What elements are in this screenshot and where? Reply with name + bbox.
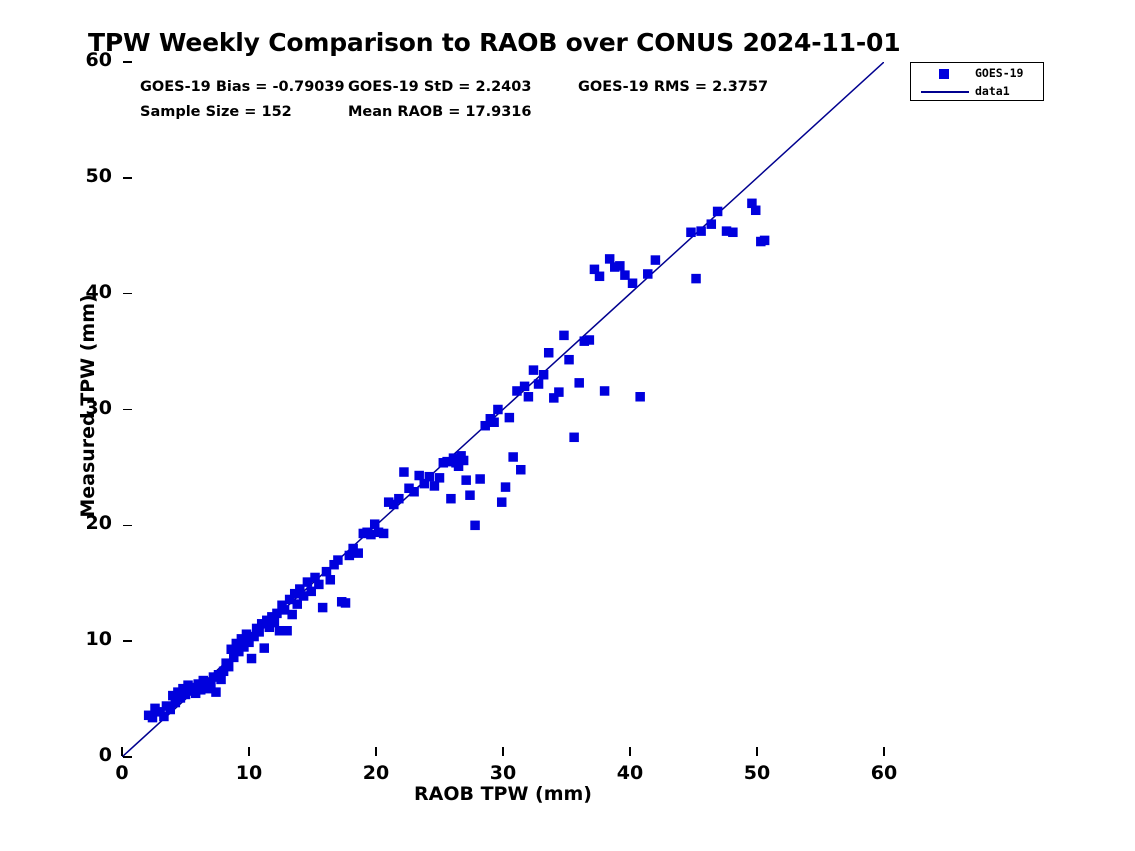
data-point-marker xyxy=(247,654,257,664)
data-point-marker xyxy=(760,236,770,246)
x-tick-20 xyxy=(375,747,376,756)
y-tick-20 xyxy=(123,525,132,526)
legend-entry-data1: data1 xyxy=(911,82,1045,101)
data-point-marker xyxy=(470,521,480,531)
x-ticklabel-10: 10 xyxy=(219,762,279,784)
data-point-marker xyxy=(524,392,534,402)
x-ticklabel-30: 30 xyxy=(473,762,533,784)
page-title: TPW Weekly Comparison to RAOB over CONUS… xyxy=(88,28,900,57)
data-point-marker xyxy=(333,555,343,565)
data-point-marker xyxy=(341,598,351,608)
data-point-marker xyxy=(318,603,328,613)
y-ticklabel-10: 10 xyxy=(66,628,112,650)
chart-figure: TPW Weekly Comparison to RAOB over CONUS… xyxy=(0,0,1135,851)
data-point-marker xyxy=(559,331,569,341)
legend-label-goes19: GOES-19 xyxy=(975,66,1043,80)
data-point-marker xyxy=(569,433,579,443)
x-tick-60 xyxy=(883,747,884,756)
x-ticklabel-20: 20 xyxy=(346,762,406,784)
x-ticklabel-60: 60 xyxy=(854,762,914,784)
data-point-marker xyxy=(605,254,615,264)
x-ticklabel-0: 0 xyxy=(92,762,152,784)
data-point-marker xyxy=(326,575,336,585)
data-point-marker xyxy=(628,278,638,288)
x-tick-0 xyxy=(121,747,122,756)
data-point-marker xyxy=(539,370,549,380)
plot-area xyxy=(122,62,884,757)
data-point-marker xyxy=(254,627,264,637)
data-point-marker xyxy=(643,269,653,279)
scatter-plot-svg xyxy=(122,62,884,757)
data-point-marker xyxy=(520,382,530,392)
data-point-marker xyxy=(211,687,221,697)
data-point-marker xyxy=(564,355,574,365)
data-point-marker xyxy=(314,580,324,590)
data-point-marker xyxy=(465,490,475,500)
x-axis-title: RAOB TPW (mm) xyxy=(303,783,703,805)
x-ticklabel-50: 50 xyxy=(727,762,787,784)
data-point-marker xyxy=(534,379,544,389)
y-ticklabel-50: 50 xyxy=(66,165,112,187)
data-point-marker xyxy=(430,481,440,491)
data-point-marker xyxy=(713,207,723,217)
data-point-marker xyxy=(446,494,456,504)
legend-line-swatch xyxy=(921,91,969,93)
data-point-marker xyxy=(574,378,584,388)
data-point-marker xyxy=(615,261,625,271)
chart-legend: GOES-19 data1 xyxy=(910,62,1044,101)
data-point-marker xyxy=(595,272,605,282)
data-point-marker xyxy=(696,226,706,236)
data-point-marker xyxy=(544,348,554,358)
data-point-marker xyxy=(224,662,234,672)
data-point-marker xyxy=(516,465,526,475)
y-tick-10 xyxy=(123,640,132,641)
data-point-marker xyxy=(585,335,595,345)
data-point-marker xyxy=(293,599,303,609)
data-point-marker xyxy=(425,472,435,482)
x-tick-40 xyxy=(629,747,630,756)
data-point-marker xyxy=(707,219,717,229)
data-point-marker xyxy=(353,548,363,558)
data-point-marker xyxy=(399,467,409,477)
data-point-marker xyxy=(600,386,610,396)
data-point-marker xyxy=(409,487,419,497)
x-tick-50 xyxy=(756,747,757,756)
data-point-marker xyxy=(501,482,511,492)
data-point-marker xyxy=(691,274,701,284)
data-point-marker xyxy=(529,365,539,375)
data-point-marker xyxy=(259,643,269,653)
data-point-marker xyxy=(751,206,761,216)
data-point-marker xyxy=(282,626,292,636)
x-ticklabel-40: 40 xyxy=(600,762,660,784)
legend-entry-goes19: GOES-19 xyxy=(911,64,1045,83)
data-point-marker xyxy=(508,452,518,462)
y-tick-0 xyxy=(123,756,132,757)
data-point-marker xyxy=(435,473,445,483)
data-point-marker xyxy=(270,618,280,628)
data-point-marker xyxy=(493,405,503,415)
y-ticklabel-60: 60 xyxy=(66,49,112,71)
y-tick-40 xyxy=(123,293,132,294)
data-point-marker xyxy=(554,387,564,397)
data-markers xyxy=(144,199,769,723)
data-point-marker xyxy=(686,228,696,238)
x-tick-10 xyxy=(248,747,249,756)
y-tick-50 xyxy=(123,177,132,178)
x-tick-30 xyxy=(502,747,503,756)
data-point-marker xyxy=(394,494,404,504)
data-point-marker xyxy=(505,413,514,423)
data-point-marker xyxy=(216,675,226,685)
data-point-marker xyxy=(459,456,469,466)
data-point-marker xyxy=(651,255,661,265)
data-point-marker xyxy=(379,529,389,539)
data-point-marker xyxy=(414,471,424,481)
data-point-marker xyxy=(489,417,499,427)
data-point-marker xyxy=(635,392,645,402)
data-point-marker xyxy=(370,519,380,529)
data-point-marker xyxy=(497,497,507,507)
data-point-marker xyxy=(728,228,738,238)
y-tick-30 xyxy=(123,409,132,410)
data-point-marker xyxy=(620,270,630,280)
y-axis-line xyxy=(0,0,2,695)
data-point-marker xyxy=(461,475,471,485)
data-point-marker xyxy=(287,610,297,620)
y-tick-60 xyxy=(123,61,132,62)
legend-label-data1: data1 xyxy=(975,84,1043,98)
y-axis-title: Measured TPW (mm) xyxy=(77,196,99,616)
data-point-marker xyxy=(475,474,485,484)
legend-marker-swatch xyxy=(939,69,949,79)
